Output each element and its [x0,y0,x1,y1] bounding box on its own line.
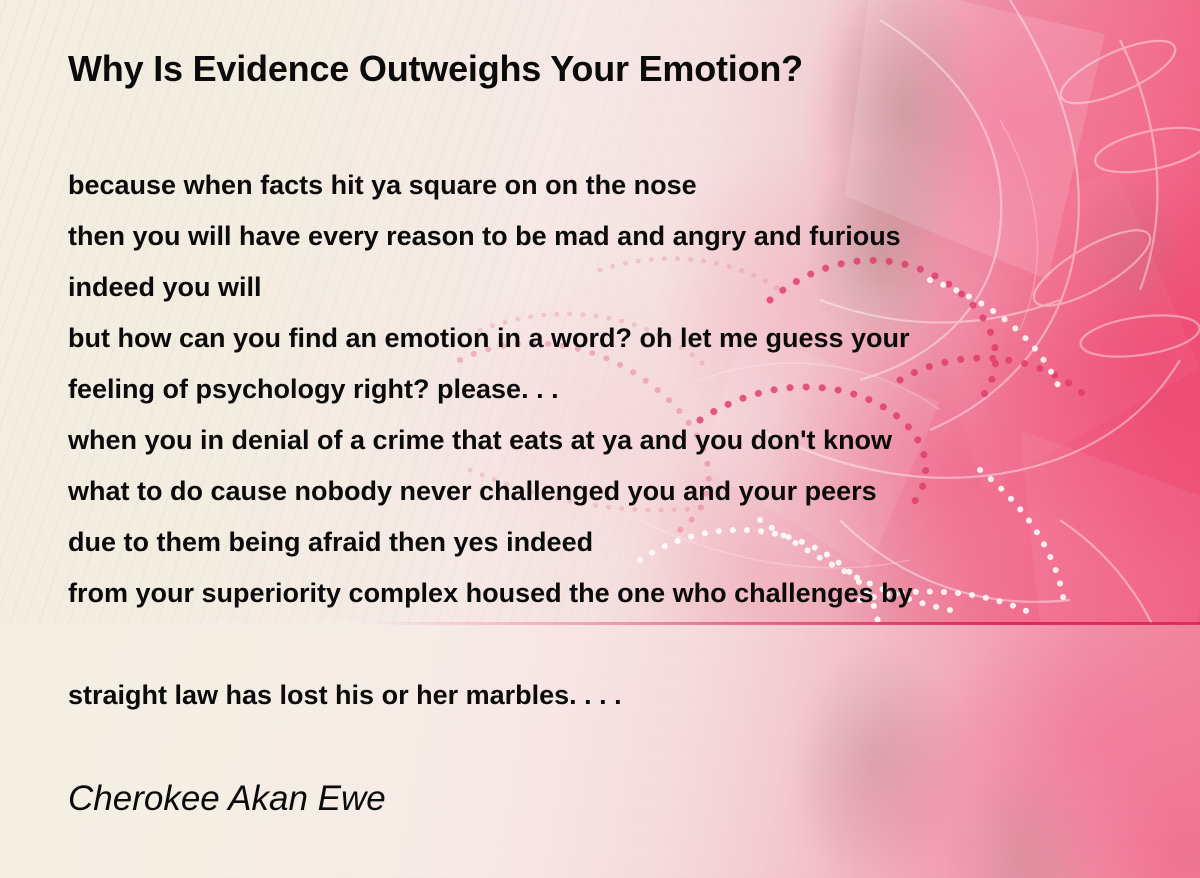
poem-body: because when facts hit ya square on on t… [68,160,913,721]
poem-line: feeling of psychology right? please. . . [68,364,913,415]
poem-line-blank [68,619,913,670]
poem-author: Cherokee Akan Ewe [68,779,386,819]
poem-line: but how can you find an emotion in a wor… [68,313,913,364]
poem-line: what to do cause nobody never challenged… [68,466,913,517]
poem-line: then you will have every reason to be ma… [68,211,913,262]
poem-line: straight law has lost his or her marbles… [68,670,913,721]
poem-line: when you in denial of a crime that eats … [68,415,913,466]
poem-content: Why Is Evidence Outweighs Your Emotion? … [0,0,1200,878]
poem-line: due to them being afraid then yes indeed [68,517,913,568]
poem-line: indeed you will [68,262,913,313]
poem-title: Why Is Evidence Outweighs Your Emotion? [68,48,803,90]
poem-image: Why Is Evidence Outweighs Your Emotion? … [0,0,1200,878]
poem-line: from your superiority complex housed the… [68,568,913,619]
poem-line: because when facts hit ya square on on t… [68,160,913,211]
